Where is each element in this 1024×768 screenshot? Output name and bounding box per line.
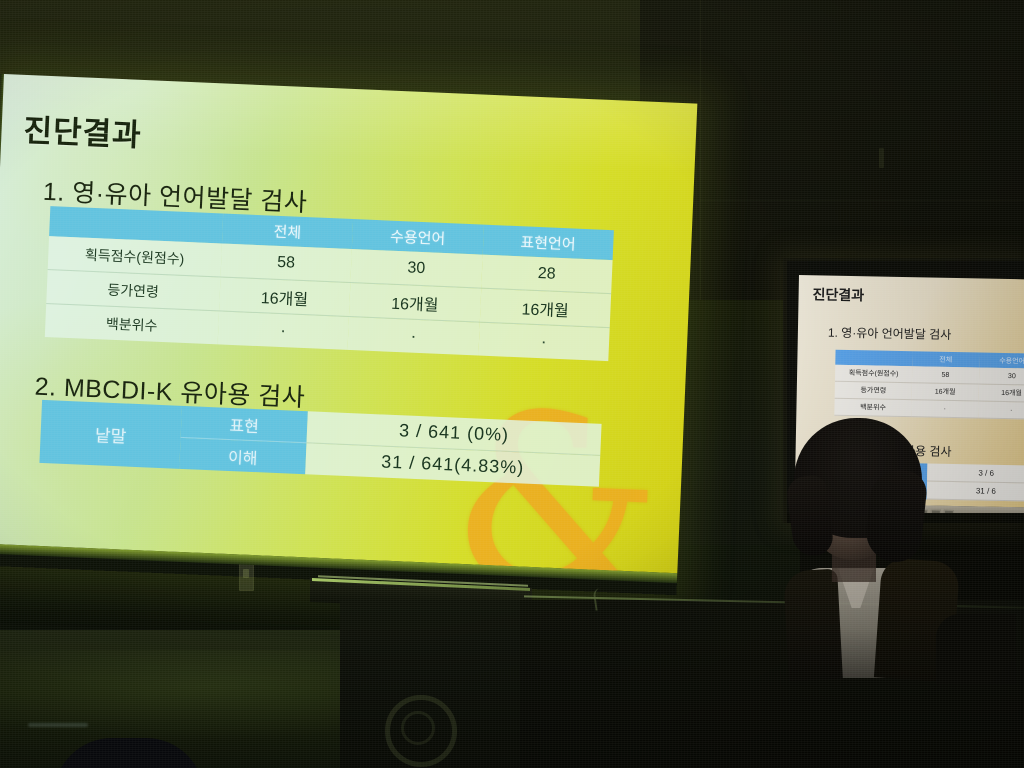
lecture-hall-scene: & 진단결과 1. 영·유아 언어발달 검사 전체 수용언어 표현언어 획득점수…: [0, 0, 1024, 768]
cell-pct-receptive: ·: [348, 316, 480, 355]
monitor-cell-raw-receptive: 30: [979, 367, 1024, 385]
podium-emblem: [385, 695, 457, 767]
row-group-label-word: 낱말: [39, 400, 182, 469]
monitor-cell-age-receptive: 16개월: [978, 384, 1024, 402]
monitor-slide-title: 진단결과: [812, 284, 864, 305]
row-label-percentile: 백분위수: [45, 304, 219, 345]
cell-age-receptive: 16개월: [349, 283, 481, 323]
slide-title: 진단결과: [23, 105, 143, 155]
table-row: 백분위수 · ·: [834, 398, 1024, 419]
vest-left: [783, 569, 843, 682]
wall-fixture: [879, 148, 884, 168]
monitor-row-label-age: 등가연령: [835, 381, 912, 399]
wall-seam: [700, 0, 701, 300]
monitor-section1-heading: 1. 영·유아 언어발달 검사: [828, 324, 952, 343]
projection-screen: & 진단결과 1. 영·유아 언어발달 검사 전체 수용언어 표현언어 획득점수…: [0, 74, 697, 595]
cell-raw-expressive: 28: [481, 255, 613, 294]
monitor-col-total: 전체: [912, 351, 979, 367]
monitor-cell-age-total: 16개월: [912, 383, 979, 401]
cell-raw-total: 58: [220, 243, 352, 282]
cell-raw-receptive: 30: [350, 249, 482, 288]
cell-pct-expressive: ·: [478, 322, 610, 361]
monitor-cell-pct-total: ·: [911, 400, 978, 418]
language-development-table: 전체 수용언어 표현언어 획득점수(원점수) 58 30 28 등가연령 16개…: [45, 206, 614, 361]
presentation-slide: & 진단결과 1. 영·유아 언어발달 검사 전체 수용언어 표현언어 획득점수…: [0, 74, 697, 573]
monitor-row-label-pct: 백분위수: [834, 398, 911, 416]
cell-pct-total: ·: [217, 311, 349, 350]
wall-seam-horizontal: [700, 200, 1024, 201]
cell-age-total: 16개월: [219, 277, 351, 317]
cell-age-expressive: 16개월: [479, 288, 611, 328]
shoulder-shadow: [936, 614, 1016, 684]
floor-glint: [28, 723, 88, 727]
monitor-col-receptive: 수용언어: [979, 352, 1024, 368]
row-label-comprehension: 이해: [179, 437, 306, 474]
monitor-cell-pct-receptive: ·: [978, 401, 1024, 419]
monitor-col-blank: [835, 350, 912, 366]
monitor-table-1: 전체 수용언어 획득점수(원점수) 58 30 등가연령 16개월 16개월: [834, 350, 1024, 420]
monitor-row-label-raw: 획득점수(원점수): [835, 365, 912, 383]
seated-presenter: [786, 418, 1006, 648]
mbcdi-k-table: 낱말 표현 3 / 641 (0%) 이해 31 / 641(4.83%): [39, 400, 601, 487]
monitor-cell-raw-total: 58: [912, 366, 979, 384]
